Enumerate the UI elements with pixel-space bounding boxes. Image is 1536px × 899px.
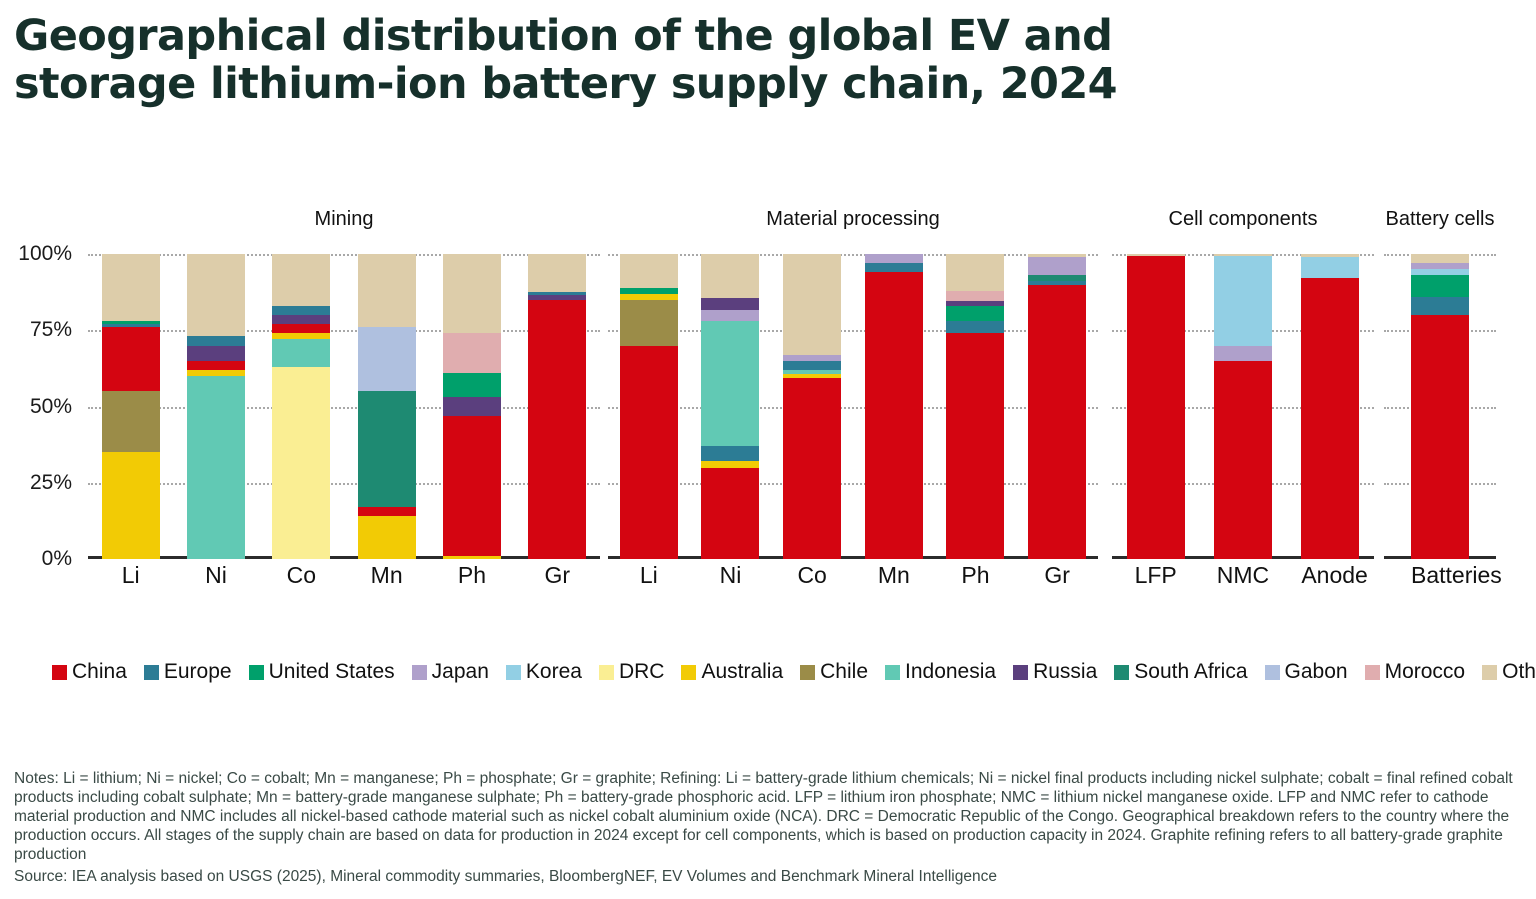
x-tick-label: LFP — [1127, 562, 1185, 589]
legend-item-russia[interactable]: Russia — [1013, 660, 1097, 684]
bar-segment[interactable] — [1214, 346, 1272, 361]
legend-item-australia[interactable]: Australia — [681, 660, 783, 684]
bars-container — [1112, 254, 1374, 559]
chart-canvas: 100%75%50%25%0% MiningLiNiCoMnPhGrMateri… — [0, 240, 1536, 660]
x-tick-label: Mn — [358, 562, 416, 589]
bar-segment[interactable] — [1411, 297, 1469, 315]
x-tick-label: Ni — [187, 562, 245, 589]
legend-item-united-states[interactable]: United States — [249, 660, 395, 684]
x-tick-label: Li — [620, 562, 678, 589]
legend-label: Europe — [164, 660, 232, 684]
bar-segment[interactable] — [187, 254, 245, 336]
legend-item-indonesia[interactable]: Indonesia — [885, 660, 996, 684]
x-tick-label: NMC — [1214, 562, 1272, 589]
bar-segment[interactable] — [358, 516, 416, 559]
stacked-bar[interactable] — [1411, 254, 1469, 559]
stacked-bar[interactable] — [1214, 254, 1272, 559]
bar-segment[interactable] — [620, 254, 678, 288]
bar-segment[interactable] — [620, 346, 678, 560]
bar-segment[interactable] — [443, 333, 501, 373]
x-tick-label: Gr — [528, 562, 586, 589]
x-axis-labels: Batteries — [1384, 562, 1496, 589]
bar-segment[interactable] — [187, 361, 245, 370]
legend-swatch-icon — [249, 665, 264, 680]
legend-swatch-icon — [52, 665, 67, 680]
chart-page: Geographical distribution of the global … — [0, 0, 1536, 899]
bar-segment[interactable] — [358, 507, 416, 516]
panel-title: Battery cells — [1384, 208, 1496, 231]
chart-panel-cell-components: Cell componentsLFPNMCAnode — [1112, 240, 1374, 605]
bar-segment[interactable] — [1301, 278, 1359, 559]
y-axis-labels: 100%75%50%25%0% — [0, 240, 78, 560]
bar-segment[interactable] — [102, 391, 160, 452]
stacked-bar[interactable] — [528, 254, 586, 559]
stacked-bar[interactable] — [443, 254, 501, 559]
legend-swatch-icon — [144, 665, 159, 680]
bar-segment[interactable] — [528, 300, 586, 559]
bar-segment[interactable] — [443, 416, 501, 556]
bar-segment[interactable] — [783, 361, 841, 370]
legend-swatch-icon — [800, 665, 815, 680]
legend-swatch-icon — [681, 665, 696, 680]
bar-segment[interactable] — [865, 272, 923, 559]
bar-segment[interactable] — [272, 254, 330, 306]
bar-segment[interactable] — [528, 254, 586, 292]
legend-swatch-icon — [1114, 665, 1129, 680]
legend-swatch-icon — [885, 665, 900, 680]
plot-area — [1384, 254, 1496, 559]
legend-label: Other — [1502, 660, 1536, 684]
bar-segment[interactable] — [1214, 256, 1272, 346]
x-tick-label: Li — [102, 562, 160, 589]
y-tick-label: 25% — [30, 471, 72, 495]
legend-swatch-icon — [506, 665, 521, 680]
page-title: Geographical distribution of the global … — [14, 12, 1434, 108]
y-tick-label: 0% — [42, 547, 72, 571]
bar-segment[interactable] — [102, 327, 160, 391]
legend-swatch-icon — [1013, 665, 1028, 680]
x-tick-label: Anode — [1301, 562, 1359, 589]
bar-segment[interactable] — [620, 300, 678, 346]
legend-label: DRC — [619, 660, 665, 684]
legend-item-gabon[interactable]: Gabon — [1265, 660, 1348, 684]
bar-segment[interactable] — [358, 254, 416, 327]
bar-segment[interactable] — [865, 254, 923, 263]
legend-label: Korea — [526, 660, 582, 684]
plot-area — [88, 254, 600, 559]
bar-segment[interactable] — [701, 310, 759, 321]
chart-panel-material-processing: Material processingLiNiCoMnPhGr — [608, 240, 1098, 605]
bar-segment[interactable] — [358, 327, 416, 391]
stacked-bar[interactable] — [1301, 254, 1359, 559]
y-tick-label: 50% — [30, 395, 72, 419]
y-tick-label: 100% — [18, 242, 72, 266]
legend-swatch-icon — [1265, 665, 1280, 680]
stacked-bar[interactable] — [1028, 254, 1086, 559]
panel-title: Cell components — [1112, 208, 1374, 231]
bar-segment[interactable] — [865, 263, 923, 272]
legend-item-south-africa[interactable]: South Africa — [1114, 660, 1247, 684]
legend-item-morocco[interactable]: Morocco — [1365, 660, 1466, 684]
x-axis-labels: LiNiCoMnPhGr — [608, 562, 1098, 589]
bar-segment[interactable] — [701, 298, 759, 310]
legend-item-europe[interactable]: Europe — [144, 660, 232, 684]
stacked-bar[interactable] — [701, 254, 759, 559]
legend-label: Chile — [820, 660, 868, 684]
x-tick-label: Ni — [701, 562, 759, 589]
bar-segment[interactable] — [783, 254, 841, 355]
bar-segment[interactable] — [443, 397, 501, 415]
stacked-bar[interactable] — [187, 254, 245, 559]
bar-segment[interactable] — [187, 346, 245, 361]
bar-segment[interactable] — [102, 452, 160, 559]
bar-segment[interactable] — [701, 254, 759, 298]
bar-segment[interactable] — [443, 373, 501, 397]
legend-swatch-icon — [1365, 665, 1380, 680]
stacked-bar[interactable] — [946, 254, 1004, 559]
legend-item-japan[interactable]: Japan — [412, 660, 489, 684]
bars-container — [1384, 254, 1496, 559]
legend-item-korea[interactable]: Korea — [506, 660, 582, 684]
chart-legend: ChinaEuropeUnited StatesJapanKoreaDRCAus… — [52, 660, 1512, 684]
bar-segment[interactable] — [102, 254, 160, 321]
bar-segment[interactable] — [272, 306, 330, 315]
bar-segment[interactable] — [187, 336, 245, 345]
x-axis-labels: LFPNMCAnode — [1112, 562, 1374, 589]
bar-segment[interactable] — [701, 321, 759, 446]
bar-segment[interactable] — [272, 367, 330, 559]
panel-title: Material processing — [608, 208, 1098, 231]
stacked-bar[interactable] — [272, 254, 330, 559]
bar-segment[interactable] — [701, 446, 759, 461]
x-tick-label: Co — [783, 562, 841, 589]
bar-segment[interactable] — [946, 306, 1004, 321]
bar-segment[interactable] — [358, 391, 416, 507]
chart-panel-battery-cells: Battery cellsBatteries — [1384, 240, 1496, 605]
bar-segment[interactable] — [1411, 254, 1469, 263]
legend-label: Russia — [1033, 660, 1097, 684]
legend-label: United States — [269, 660, 395, 684]
bar-segment[interactable] — [783, 378, 841, 559]
bar-segment[interactable] — [443, 556, 501, 559]
legend-swatch-icon — [412, 665, 427, 680]
plot-area — [1112, 254, 1374, 559]
bar-segment[interactable] — [1028, 285, 1086, 560]
bar-segment[interactable] — [1301, 257, 1359, 278]
stacked-bar[interactable] — [1127, 254, 1185, 559]
bar-segment[interactable] — [1214, 361, 1272, 559]
bar-segment[interactable] — [946, 291, 1004, 302]
stacked-bar[interactable] — [620, 254, 678, 559]
stacked-bar[interactable] — [358, 254, 416, 559]
legend-label: China — [72, 660, 127, 684]
bar-segment[interactable] — [187, 376, 245, 559]
legend-label: Morocco — [1385, 660, 1466, 684]
x-tick-label: Batteries — [1411, 562, 1469, 589]
bar-segment[interactable] — [1028, 257, 1086, 275]
bar-segment[interactable] — [946, 254, 1004, 291]
chart-notes: Notes: Li = lithium; Ni = nickel; Co = c… — [14, 770, 1524, 865]
legend-label: Japan — [432, 660, 489, 684]
x-tick-label: Mn — [865, 562, 923, 589]
legend-swatch-icon — [599, 665, 614, 680]
bar-segment[interactable] — [1411, 275, 1469, 296]
x-axis-labels: LiNiCoMnPhGr — [88, 562, 600, 589]
plot-area — [608, 254, 1098, 559]
bar-segment[interactable] — [443, 254, 501, 333]
legend-label: Gabon — [1285, 660, 1348, 684]
stacked-bar[interactable] — [102, 254, 160, 559]
bar-segment[interactable] — [946, 321, 1004, 333]
bar-segment[interactable] — [272, 324, 330, 333]
panel-title: Mining — [88, 208, 600, 231]
bars-container — [88, 254, 600, 559]
legend-label: South Africa — [1134, 660, 1247, 684]
bars-container — [608, 254, 1098, 559]
y-tick-label: 75% — [30, 318, 72, 342]
chart-source: Source: IEA analysis based on USGS (2025… — [14, 868, 1524, 887]
legend-label: Australia — [701, 660, 783, 684]
legend-label: Indonesia — [905, 660, 996, 684]
legend-swatch-icon — [1482, 665, 1497, 680]
x-tick-label: Ph — [946, 562, 1004, 589]
legend-item-drc[interactable]: DRC — [599, 660, 665, 684]
legend-item-other[interactable]: Other — [1482, 660, 1536, 684]
bar-segment[interactable] — [701, 468, 759, 560]
x-tick-label: Co — [272, 562, 330, 589]
stacked-bar[interactable] — [783, 254, 841, 559]
legend-item-chile[interactable]: Chile — [800, 660, 868, 684]
bar-segment[interactable] — [272, 339, 330, 366]
bar-segment[interactable] — [1127, 256, 1185, 559]
stacked-bar[interactable] — [865, 254, 923, 559]
x-tick-label: Ph — [443, 562, 501, 589]
bar-segment[interactable] — [272, 315, 330, 324]
x-tick-label: Gr — [1028, 562, 1086, 589]
chart-panel-mining: MiningLiNiCoMnPhGr — [88, 240, 600, 605]
bar-segment[interactable] — [946, 333, 1004, 559]
bar-segment[interactable] — [1411, 315, 1469, 559]
legend-item-china[interactable]: China — [52, 660, 127, 684]
